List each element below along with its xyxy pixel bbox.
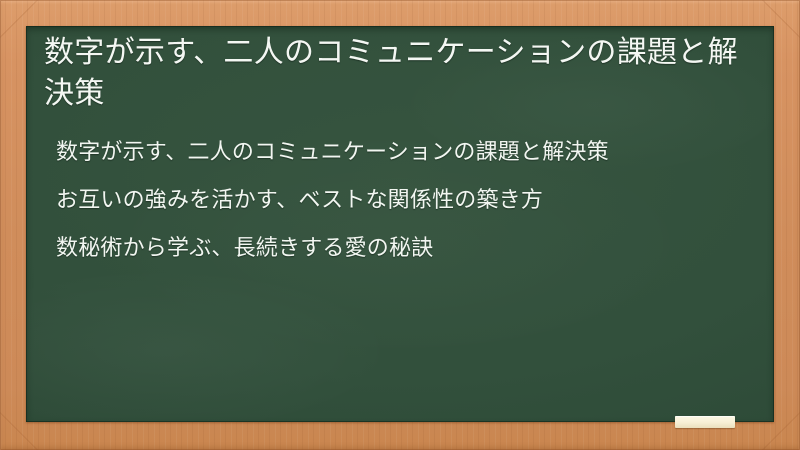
list-item: 数字が示す、二人のコミュニケーションの課題と解決策 bbox=[56, 137, 756, 168]
slide-title: 数字が示す、二人のコミュニケーションの課題と解決策 bbox=[44, 30, 756, 115]
list-item: お互いの強みを活かす、ベストな関係性の築き方 bbox=[56, 185, 756, 216]
chalkboard-surface: 数字が示す、二人のコミュニケーションの課題と解決策 数字が示す、二人のコミュニケ… bbox=[26, 26, 774, 422]
slide-bullet-list: 数字が示す、二人のコミュニケーションの課題と解決策 お互いの強みを活かす、ベスト… bbox=[44, 137, 756, 265]
chalkboard-frame: 数字が示す、二人のコミュニケーションの課題と解決策 数字が示す、二人のコミュニケ… bbox=[0, 0, 800, 450]
chalkboard-content: 数字が示す、二人のコミュニケーションの課題と解決策 数字が示す、二人のコミュニケ… bbox=[26, 26, 774, 422]
list-item: 数秘術から学ぶ、長続きする愛の秘訣 bbox=[56, 233, 756, 264]
